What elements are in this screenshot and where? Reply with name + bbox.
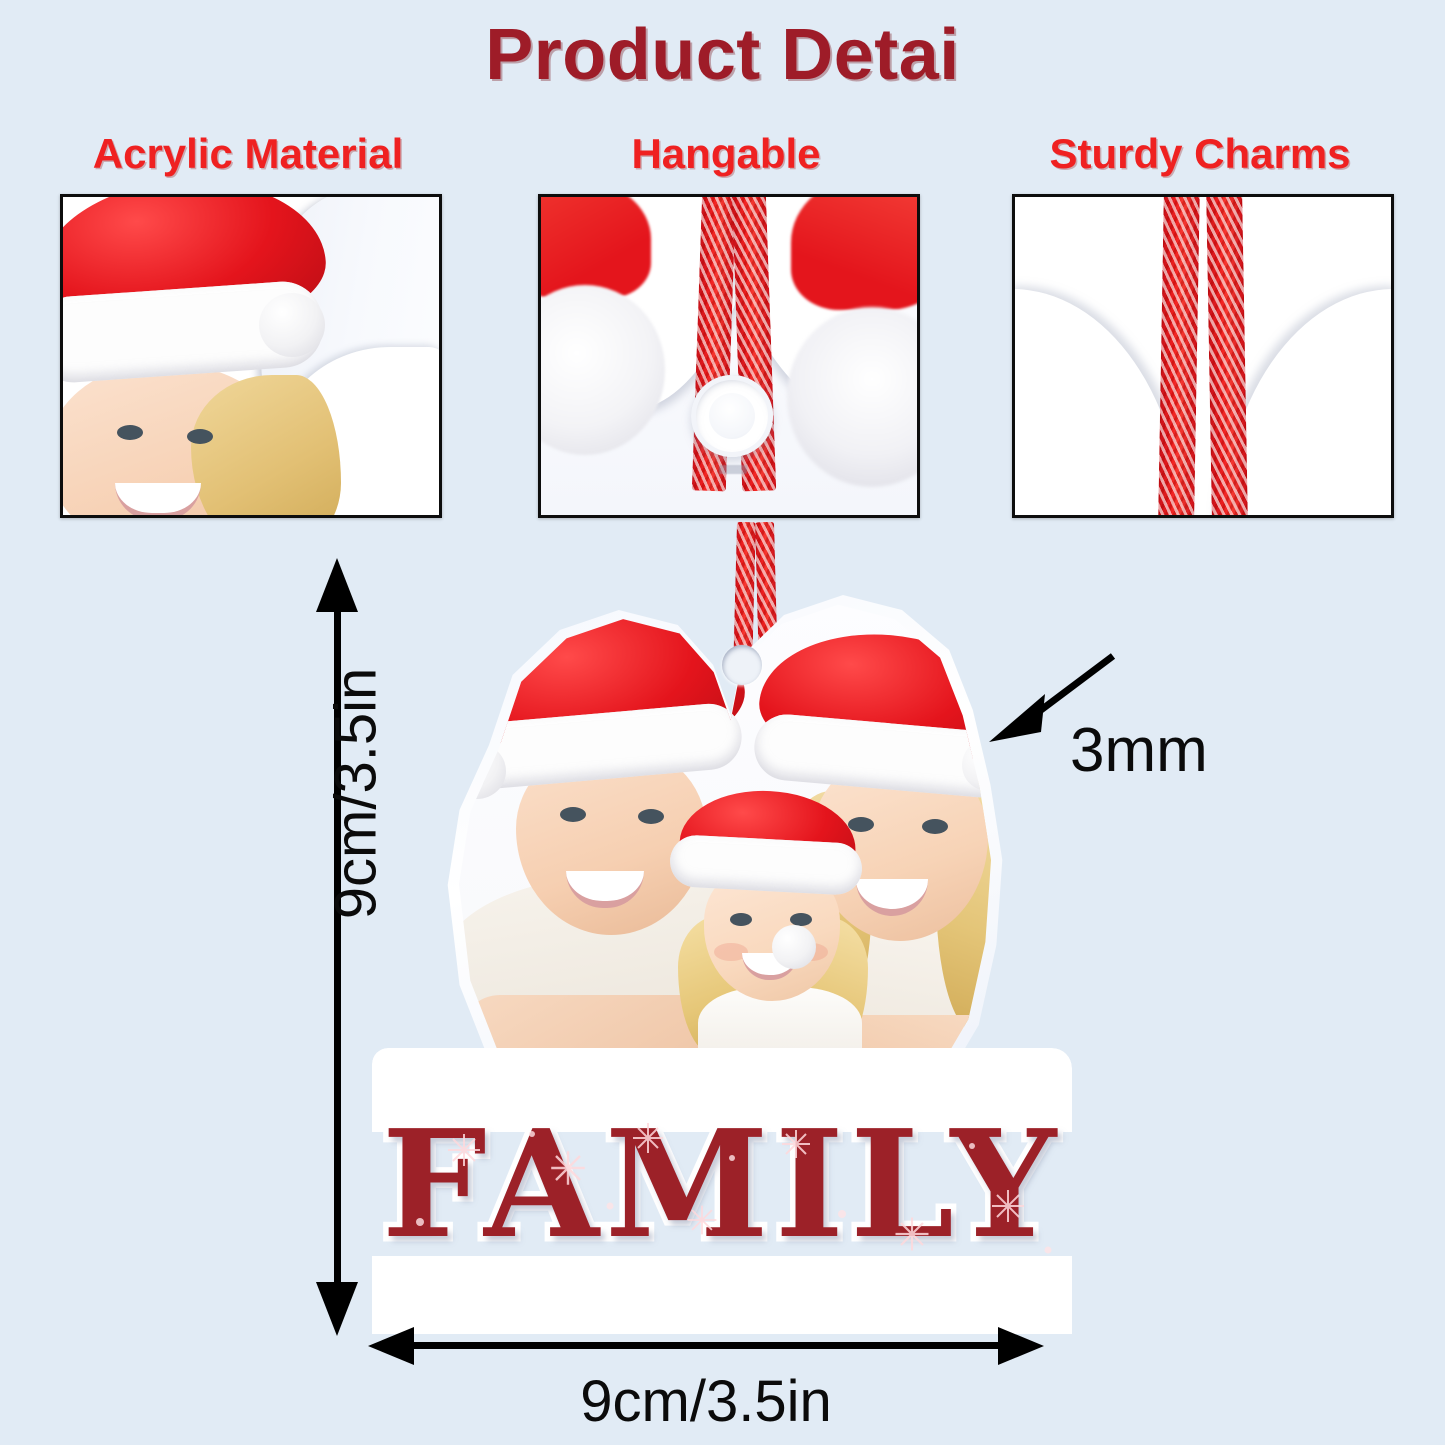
family-name-plate: FAMILY (372, 1048, 1072, 1340)
width-arrow-right-icon (998, 1327, 1044, 1365)
father-eye-right (638, 809, 664, 824)
santa-hat-blurred-left (541, 197, 651, 299)
feature-sturdy-charms: Sturdy Charms (1012, 132, 1388, 518)
ornament-hanging-hole (722, 645, 762, 685)
ribbon-through-hole-closeup-image (541, 197, 917, 515)
red-braided-ribbon-closeup-image (1015, 197, 1391, 515)
woman-hair (191, 375, 341, 515)
feature-label-hangable: Hangable (538, 132, 914, 176)
feature-label-acrylic-material: Acrylic Material (60, 132, 436, 176)
feature-label-sturdy-charms: Sturdy Charms (1012, 132, 1388, 176)
feature-photo-hangable (538, 194, 920, 518)
santa-hat-pompom (259, 293, 325, 357)
width-dimension-line (404, 1342, 1008, 1349)
feature-acrylic-material: Acrylic Material (60, 132, 436, 518)
thickness-label: 3mm (1070, 715, 1208, 786)
width-dimension-label: 9cm/3.5in (368, 1368, 1044, 1435)
height-dimension-label: 9cm/3.5in (323, 634, 390, 954)
eye-right-icon (187, 429, 213, 444)
eye-left-icon (117, 425, 143, 440)
mother-eye-right (922, 819, 948, 834)
infographic-canvas: Product Detai Acrylic Material Hangable (0, 0, 1445, 1445)
hanging-hole-inner (709, 393, 755, 439)
feature-photo-acrylic-material (60, 194, 442, 518)
feature-hangable: Hangable (538, 132, 914, 518)
smile-icon (115, 483, 201, 515)
page-title: Product Detai (0, 14, 1445, 96)
child-santa-hat-brim (669, 834, 863, 896)
child-santa-hat-pompom (772, 925, 816, 969)
child-eye-left (730, 913, 752, 926)
father-eye-left (560, 807, 586, 822)
height-arrow-bottom-icon (316, 1282, 358, 1336)
mother-eye-left (848, 817, 874, 832)
feature-photo-sturdy-charms (1012, 194, 1394, 518)
ribbon-strand-left (1158, 197, 1200, 515)
snow-bank-bottom (372, 1256, 1072, 1334)
santa-hat-blurred-right (791, 197, 917, 310)
surface-mark (719, 465, 747, 474)
acrylic-edge-closeup-image (63, 197, 439, 515)
ribbon-strand-right (1206, 197, 1248, 515)
family-word-text: FAMILY (372, 1110, 1072, 1258)
